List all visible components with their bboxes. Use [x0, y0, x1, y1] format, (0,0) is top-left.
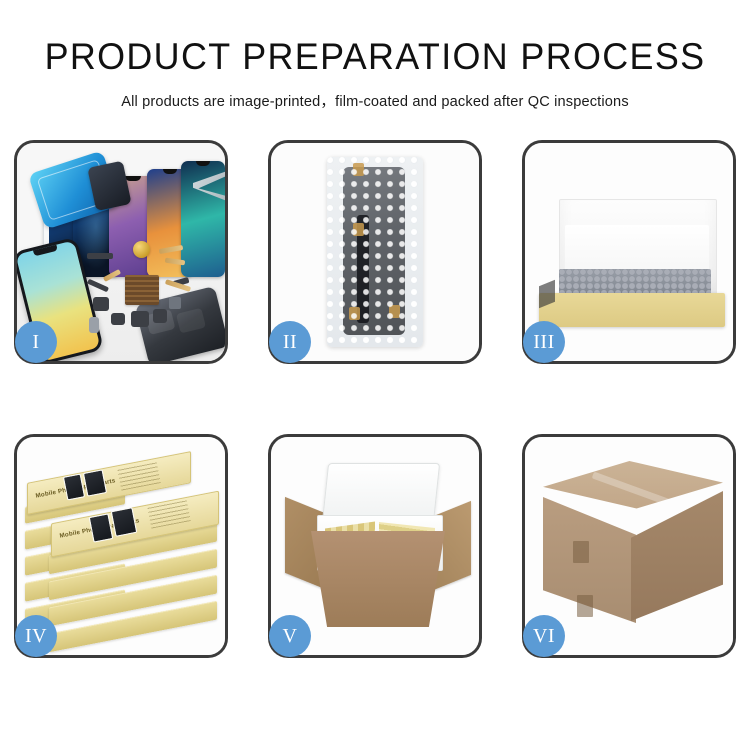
tape-piece-mid	[353, 223, 364, 236]
step-badge-3: III	[523, 321, 565, 363]
shipping-carton-open	[283, 455, 473, 645]
step-badge-4: IV	[15, 615, 57, 657]
box-screen-image-2b	[111, 507, 138, 537]
step-panel-2[interactable]: II	[268, 140, 482, 364]
step-panel-4[interactable]: Mobile Phone Spare Parts Mobile Phone Sp…	[14, 434, 228, 658]
spare-parts-cluster	[87, 239, 219, 361]
page-subtitle: All products are image-printed，film-coat…	[0, 77, 750, 111]
step-panel-3[interactable]: III	[522, 140, 736, 364]
speaker-part	[133, 241, 150, 258]
step-badge-6: VI	[523, 615, 565, 657]
carton-patch-upper	[573, 541, 589, 563]
foam-cooler-lid	[322, 463, 440, 523]
box-front-panel	[539, 293, 725, 327]
logic-board-part	[125, 275, 159, 305]
process-grid: I II	[14, 140, 736, 658]
carton-patch-lower	[577, 595, 593, 617]
step-badge-2: II	[269, 321, 311, 363]
step-panel-1[interactable]: I	[14, 140, 228, 364]
tape-piece-top	[353, 163, 364, 176]
box-screen-image-1b	[83, 469, 107, 496]
bubble-wrapped-package	[327, 157, 423, 347]
infographic-page: PRODUCT PREPARATION PROCESS All products…	[0, 0, 750, 750]
step-panel-5[interactable]: V	[268, 434, 482, 658]
sealed-carton	[543, 461, 723, 631]
tape-piece-bottom-left	[349, 307, 360, 320]
step-badge-5: V	[269, 615, 311, 657]
step-panel-6[interactable]: VI	[522, 434, 736, 658]
header: PRODUCT PREPARATION PROCESS All products…	[0, 0, 750, 111]
tape-piece-bottom-right	[389, 305, 400, 318]
step-badge-1: I	[15, 321, 57, 363]
page-title: PRODUCT PREPARATION PROCESS	[11, 0, 739, 77]
carton-side-face	[631, 491, 723, 621]
box-stack: Mobile Phone Spare Parts Mobile Phone Sp…	[23, 459, 223, 645]
open-yellow-box	[539, 199, 725, 327]
carton-body	[311, 531, 445, 627]
